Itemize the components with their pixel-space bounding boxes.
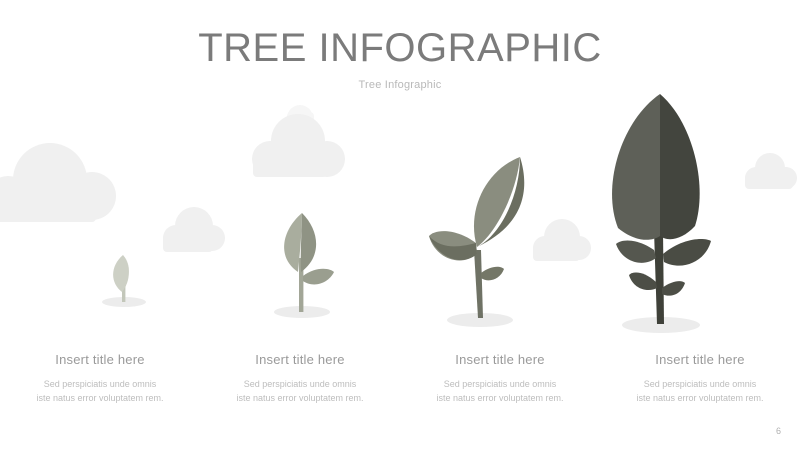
plant-4-leaf-upper-right xyxy=(663,239,711,266)
caption-body-2-line2: iste natus error voluptatem rem. xyxy=(236,393,363,403)
caption-body-1[interactable]: Sed perspiciatis unde omnis iste natus e… xyxy=(14,378,186,406)
caption-body-4[interactable]: Sed perspiciatis unde omnis iste natus e… xyxy=(614,378,786,406)
caption-body-1-line2: iste natus error voluptatem rem. xyxy=(36,393,163,403)
caption-row: Insert title here Sed perspiciatis unde … xyxy=(0,352,800,406)
plant-shadows xyxy=(102,297,700,333)
caption-column-1: Insert title here Sed perspiciatis unde … xyxy=(0,352,200,406)
caption-body-2[interactable]: Sed perspiciatis unde omnis iste natus e… xyxy=(214,378,386,406)
caption-title-4[interactable]: Insert title here xyxy=(614,352,786,367)
caption-body-3-line1: Sed perspiciatis unde omnis xyxy=(444,379,557,389)
caption-body-1-line1: Sed perspiciatis unde omnis xyxy=(44,379,157,389)
plant-3-stem xyxy=(474,250,483,318)
plant-1-sprout xyxy=(113,255,129,302)
plant-3-leaf-side-right-small xyxy=(481,267,504,281)
caption-body-4-line1: Sed perspiciatis unde omnis xyxy=(644,379,757,389)
caption-title-2[interactable]: Insert title here xyxy=(214,352,386,367)
caption-body-2-line1: Sed perspiciatis unde omnis xyxy=(244,379,357,389)
caption-column-2: Insert title here Sed perspiciatis unde … xyxy=(200,352,400,406)
header: TREE INFOGRAPHIC Tree Infographic xyxy=(0,0,800,91)
plant-4-stem xyxy=(654,230,664,324)
caption-body-4-line2: iste natus error voluptatem rem. xyxy=(636,393,763,403)
plant-2-leaf-main-shade xyxy=(301,213,316,272)
caption-title-1[interactable]: Insert title here xyxy=(14,352,186,367)
plant-3-young-plant xyxy=(429,157,524,318)
caption-body-3-line2: iste natus error voluptatem rem. xyxy=(436,393,563,403)
caption-column-4: Insert title here Sed perspiciatis unde … xyxy=(600,352,800,406)
caption-column-3: Insert title here Sed perspiciatis unde … xyxy=(400,352,600,406)
page-number: 6 xyxy=(776,426,781,436)
page-subtitle: Tree Infographic xyxy=(0,70,800,91)
plant-4-grown-plant xyxy=(612,94,711,324)
plant-4-leaf-lower-right xyxy=(662,281,685,296)
plant-4-leaf-upper-left xyxy=(616,240,656,262)
slide-canvas: TREE INFOGRAPHIC Tree Infographic Insert… xyxy=(0,0,800,450)
plant-1-leaf-main xyxy=(113,255,129,292)
plant-2-seedling xyxy=(284,213,334,312)
page-title: TREE INFOGRAPHIC xyxy=(0,0,800,70)
plant-4-leaf-main-shade xyxy=(660,94,700,239)
caption-body-3[interactable]: Sed perspiciatis unde omnis iste natus e… xyxy=(414,378,586,406)
plant-2-leaf-side-right xyxy=(303,269,334,285)
plant-4-leaf-lower-left xyxy=(629,273,657,291)
caption-title-3[interactable]: Insert title here xyxy=(414,352,586,367)
plant-4-leaf-main xyxy=(612,94,660,240)
